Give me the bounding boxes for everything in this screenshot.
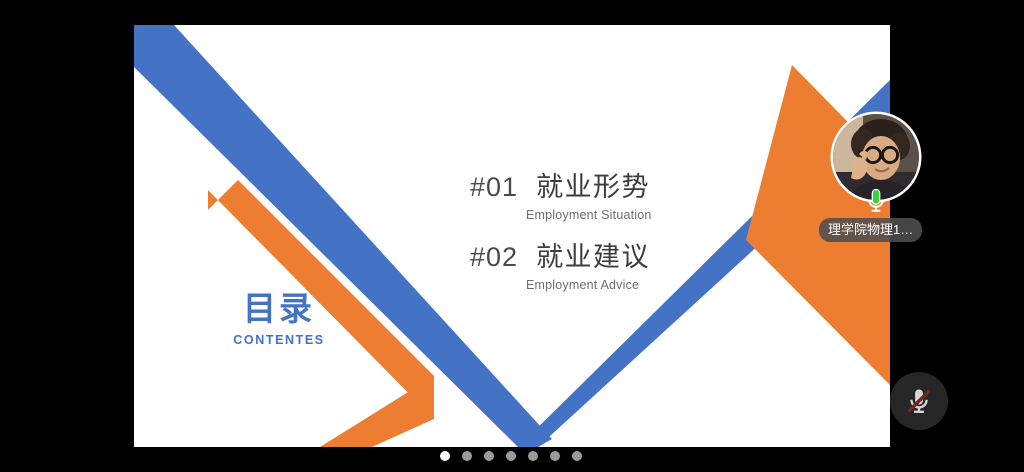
toc-entry-2-title-cn: 就业建议 xyxy=(536,235,650,274)
page-dot-4[interactable] xyxy=(506,451,516,461)
toc-entry-1-main: #01 就业形势 xyxy=(470,165,652,204)
microphone-mute-toggle-button[interactable] xyxy=(890,372,948,430)
pagination-dots[interactable] xyxy=(440,451,582,461)
toc-heading: 目录 CONTENTES xyxy=(179,290,379,347)
page-dot-3[interactable] xyxy=(484,451,494,461)
page-dot-7[interactable] xyxy=(572,451,582,461)
page-dot-1[interactable] xyxy=(440,451,450,461)
toc-entry-1-title-cn: 就业形势 xyxy=(536,165,650,204)
toc-title-en: CONTENTES xyxy=(179,333,379,347)
microphone-muted-icon xyxy=(903,385,935,417)
toc-entry-2: #02 就业建议 Employment Advice xyxy=(470,235,650,292)
toc-title-cn: 目录 xyxy=(179,290,379,328)
avatar[interactable] xyxy=(833,114,919,200)
mic-capsule xyxy=(872,190,879,205)
toc-entry-1: #01 就业形势 Employment Situation xyxy=(470,165,652,222)
participant-video-tile[interactable]: 理学院物理1… xyxy=(833,114,921,242)
page-dot-5[interactable] xyxy=(528,451,538,461)
mic-active-green-icon xyxy=(866,189,886,213)
toc-entry-2-title-en: Employment Advice xyxy=(526,278,650,292)
page-dot-2[interactable] xyxy=(462,451,472,461)
toc-entry-1-title-en: Employment Situation xyxy=(526,208,652,222)
participant-name-label: 理学院物理1… xyxy=(819,218,922,242)
toc-entry-2-number: #02 xyxy=(470,242,518,273)
screen-share-viewport: 目录 CONTENTES #01 就业形势 Employment Situati… xyxy=(0,0,1024,472)
toc-entry-1-number: #01 xyxy=(470,172,518,203)
user-avatar-photo-icon xyxy=(833,114,919,200)
shared-slide[interactable]: 目录 CONTENTES #01 就业形势 Employment Situati… xyxy=(134,25,890,447)
page-dot-6[interactable] xyxy=(550,451,560,461)
slide-text-layer: 目录 CONTENTES #01 就业形势 Employment Situati… xyxy=(134,25,890,447)
toc-entry-2-main: #02 就业建议 xyxy=(470,235,650,274)
